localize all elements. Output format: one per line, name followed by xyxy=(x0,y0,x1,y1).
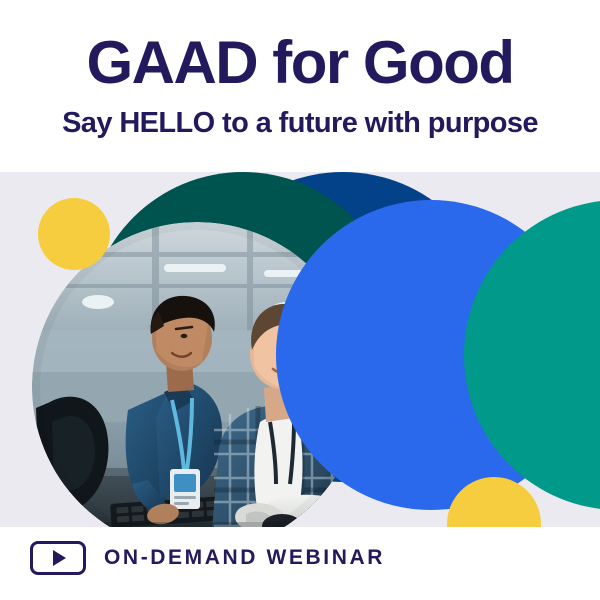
page-subtitle: Say HELLO to a future with purpose xyxy=(0,105,600,141)
footer-band: ON-DEMAND WEBINAR xyxy=(0,527,600,600)
yellow-dot-top-left-shape xyxy=(38,198,110,270)
play-button-icon xyxy=(30,541,86,575)
page-title: GAAD for Good xyxy=(0,30,600,96)
play-triangle-icon xyxy=(53,550,66,566)
graphic-panel xyxy=(0,172,600,527)
on-demand-webinar-badge: ON-DEMAND WEBINAR xyxy=(30,541,385,575)
header-band: GAAD for Good Say HELLO to a future with… xyxy=(0,0,600,172)
footer-label: ON-DEMAND WEBINAR xyxy=(104,546,385,570)
poster-canvas: GAAD for Good Say HELLO to a future with… xyxy=(0,0,600,600)
